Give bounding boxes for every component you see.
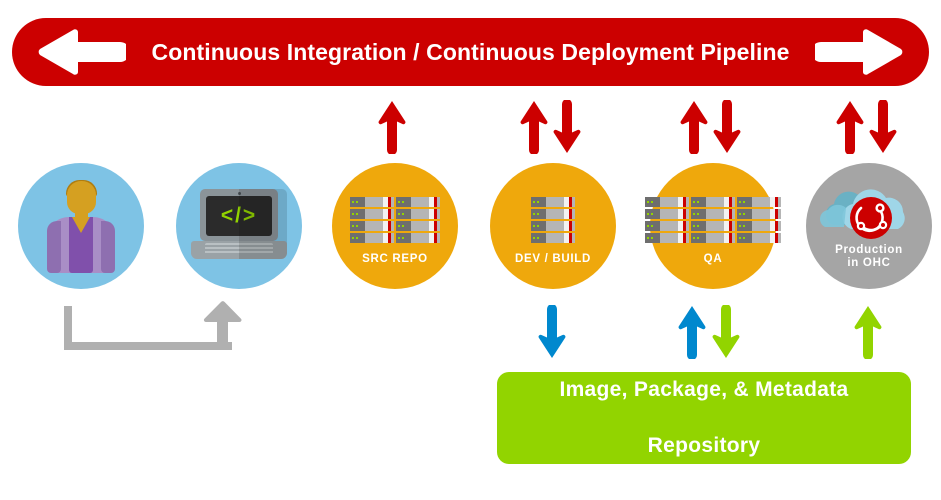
node-label-production-line2: in OHC: [806, 257, 932, 270]
arrow-right-icon: [815, 29, 907, 75]
laptop-code-icon: </>: [176, 189, 302, 261]
pipeline-arrow-up-src-repo: [378, 100, 406, 154]
node-label-qa: QA: [650, 253, 776, 266]
server-rack-icon: [490, 197, 616, 243]
repository-label: Image, Package, & Metadata Repository: [559, 348, 848, 488]
node-dev-build[interactable]: DEV / BUILD: [490, 163, 616, 289]
node-workstation[interactable]: </>: [176, 163, 302, 289]
node-label-production-line1: Production: [806, 244, 932, 257]
repo-arrow-up-production: [854, 305, 882, 359]
node-label-dev-build: DEV / BUILD: [490, 253, 616, 266]
arrow-up-connector-icon: [60, 300, 250, 360]
pipeline-arrow-up-dev-build: [520, 100, 548, 154]
node-label-production: Production in OHC: [806, 244, 932, 270]
cloud-openshift-icon: [806, 177, 932, 243]
person-icon: [18, 181, 144, 273]
pipeline-arrow-down-dev-build: [553, 100, 581, 154]
banner-title: Continuous Integration / Continuous Depl…: [152, 39, 790, 66]
server-rack-icon: [332, 197, 458, 243]
pipeline-banner: Continuous Integration / Continuous Depl…: [12, 18, 929, 86]
repository-label-line2: Repository: [559, 432, 848, 460]
pipeline-arrow-down-production: [869, 100, 897, 154]
code-glyph: </>: [221, 204, 257, 228]
pipeline-arrow-up-qa: [680, 100, 708, 154]
server-rack-icon: [650, 197, 776, 243]
arrow-left-icon: [34, 29, 126, 75]
node-production[interactable]: Production in OHC: [806, 163, 932, 289]
node-label-src-repo: SRC REPO: [332, 253, 458, 266]
node-developer[interactable]: [18, 163, 144, 289]
repository-box[interactable]: Image, Package, & Metadata Repository: [497, 372, 911, 464]
node-src-repo[interactable]: SRC REPO: [332, 163, 458, 289]
node-qa[interactable]: QA: [650, 163, 776, 289]
pipeline-arrow-down-qa: [713, 100, 741, 154]
repository-label-line1: Image, Package, & Metadata: [559, 376, 848, 404]
pipeline-arrow-up-production: [836, 100, 864, 154]
